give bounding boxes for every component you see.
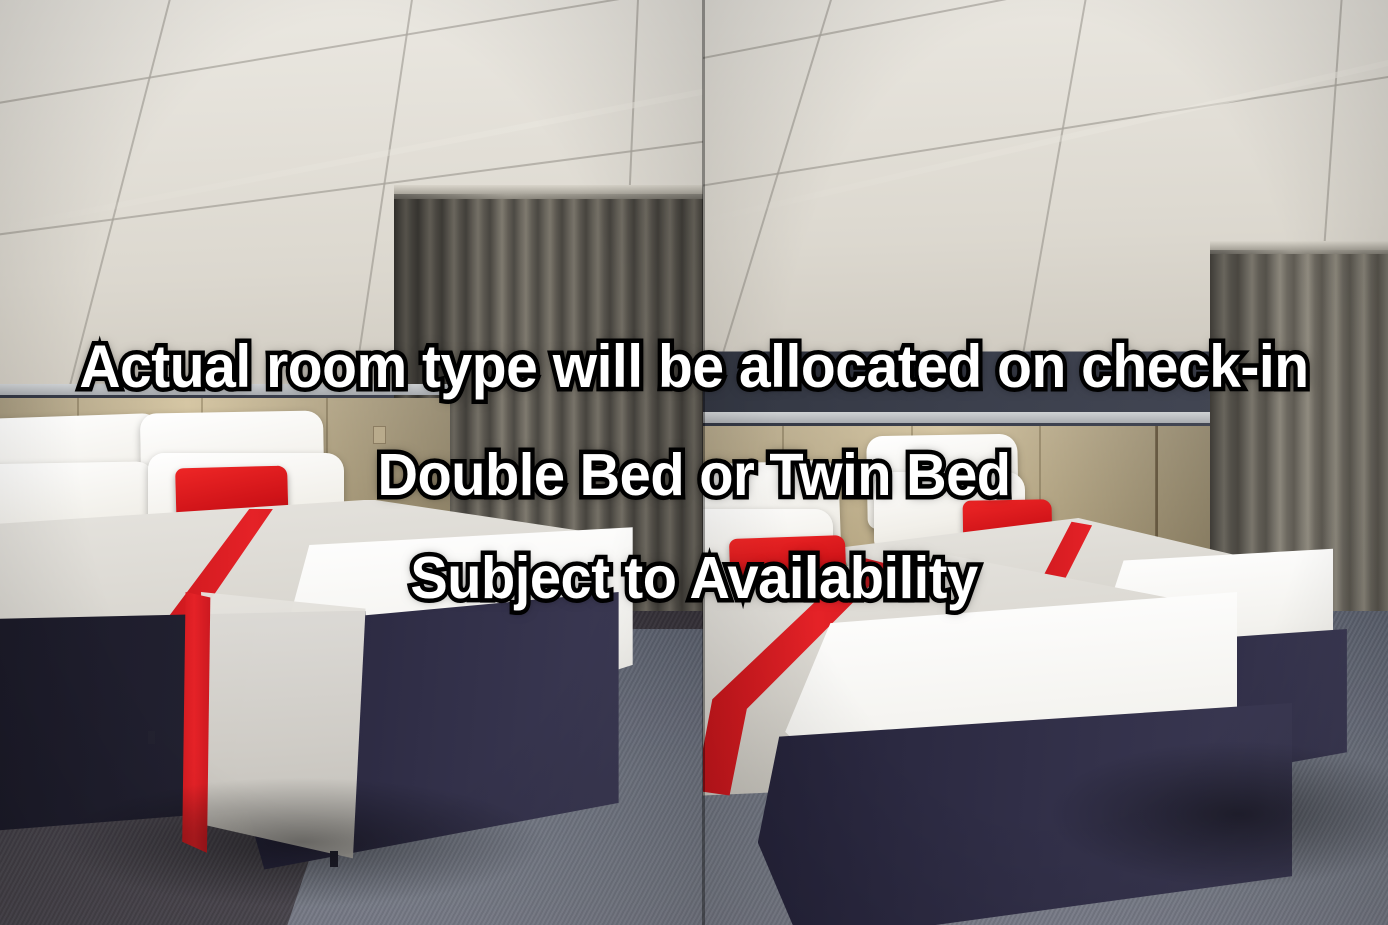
floor-shadow-right	[1046, 740, 1388, 888]
photo-panel-double-bed	[0, 0, 703, 925]
photo-panel-twin-beds	[703, 0, 1388, 925]
bed-caster-left-2	[148, 731, 155, 744]
panel-split-seam	[702, 0, 705, 925]
wall-socket-left	[373, 426, 386, 444]
floor-shadow-left	[56, 777, 548, 907]
screenshot-root: Actual room type will be allocated on ch…	[0, 0, 1388, 925]
headboard-top-rail-left	[0, 384, 450, 395]
headboard-top-rail-right	[703, 412, 1210, 423]
